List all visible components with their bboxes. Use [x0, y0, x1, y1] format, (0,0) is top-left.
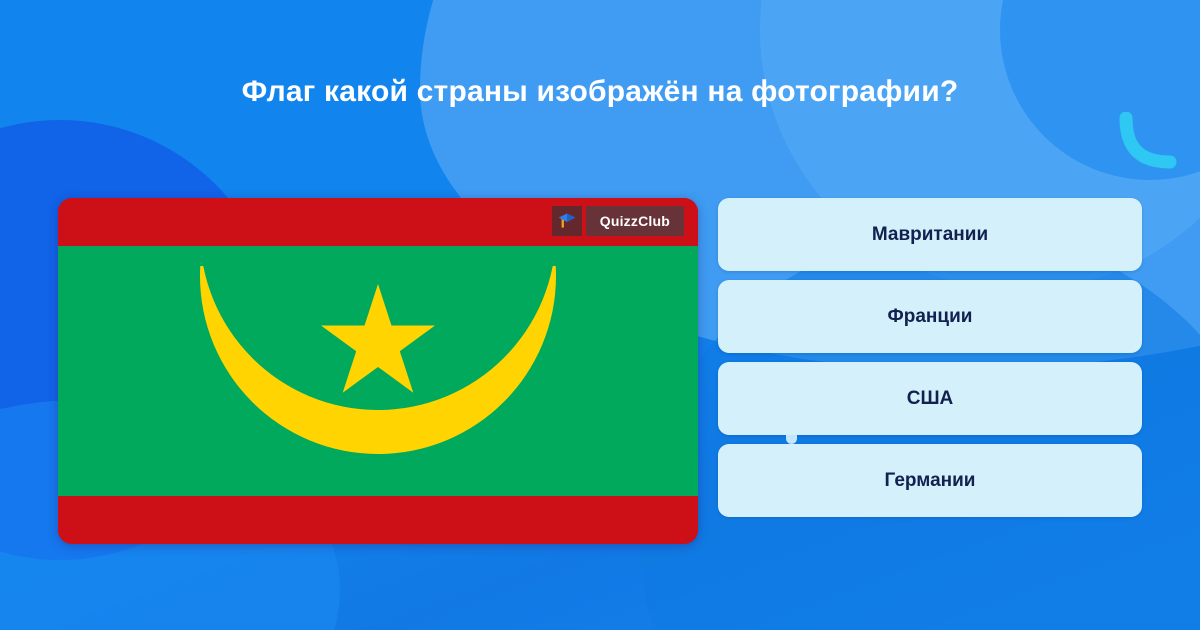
answer-option-1[interactable]: Мавритании: [718, 198, 1142, 271]
flag-stripe-bottom: [58, 496, 698, 544]
answer-option-label: Германии: [885, 470, 976, 492]
page-title: Флаг какой страны изображён на фотографи…: [0, 74, 1200, 110]
flag-image-mauritania: [58, 198, 698, 544]
swoosh-arc-icon: [1118, 112, 1180, 174]
flag-field: [58, 246, 698, 496]
answer-option-label: Франции: [888, 306, 973, 328]
answer-option-label: Мавритании: [872, 224, 988, 246]
brand-watermark[interactable]: QuizzClub: [552, 206, 684, 236]
question-image-card[interactable]: QuizzClub: [58, 198, 698, 544]
quiz-card: Флаг какой страны изображён на фотографи…: [0, 0, 1200, 630]
crescent-and-star-icon: [188, 266, 568, 476]
answer-option-2[interactable]: Франции: [718, 280, 1142, 353]
answer-option-4[interactable]: Германии: [718, 444, 1142, 517]
answer-option-label: США: [907, 388, 954, 410]
brand-name-label: QuizzClub: [586, 206, 684, 236]
answer-option-tab: [786, 431, 797, 444]
answer-options-list: Мавритании Франции США Германии: [718, 198, 1142, 517]
answer-option-3[interactable]: США: [718, 362, 1142, 435]
graduation-cap-icon: [552, 206, 582, 236]
